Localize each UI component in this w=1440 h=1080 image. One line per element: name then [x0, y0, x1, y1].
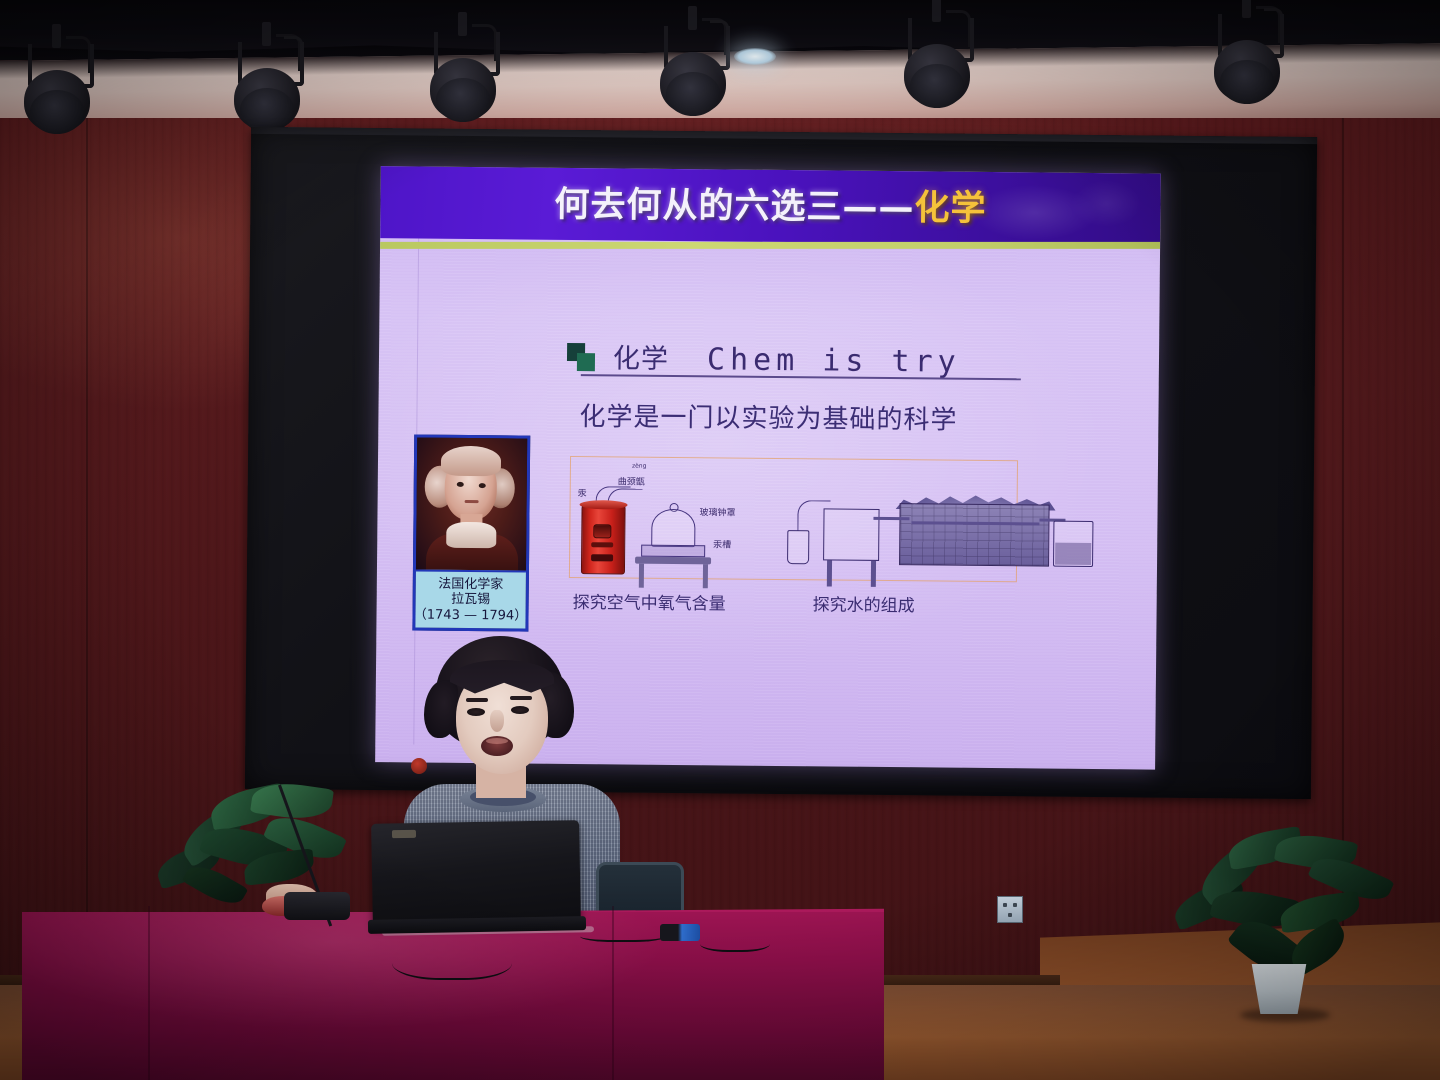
lecture-hall-photo: 何去何从的六选三——化学 化学 Chem is try 化学是一门以实验为基础的…: [0, 0, 1440, 1080]
presenter-eye-left: [467, 708, 485, 716]
ceiling-spotlight-icon: [734, 48, 776, 65]
cable-segment: [700, 932, 770, 952]
presenter-brow-left: [466, 698, 488, 702]
presenter-brow-right: [510, 696, 532, 700]
wall-panel-seam: [86, 118, 88, 938]
outlet-hole: [1008, 913, 1012, 917]
outlet-hole: [1013, 903, 1017, 907]
light-lens-icon: [666, 72, 720, 116]
power-outlet-plate[interactable]: [997, 896, 1023, 923]
cable-segment: [580, 928, 666, 942]
light-lens-icon: [436, 78, 490, 122]
laptop-badge: [392, 830, 416, 838]
presenter-mouth-highlight: [486, 738, 508, 744]
microphone-base: [284, 892, 350, 920]
presenter-eye-right: [511, 706, 529, 714]
light-lens-icon: [30, 90, 84, 134]
cable-segment: [392, 938, 512, 980]
tablecloth-fold: [148, 906, 150, 1080]
light-lens-icon: [910, 64, 964, 108]
wall-panel-seam: [1342, 118, 1344, 938]
vga-connector[interactable]: [660, 924, 700, 941]
presenter-hair-left: [424, 680, 458, 738]
outlet-hole: [1003, 903, 1007, 907]
presenter-nose: [490, 710, 504, 732]
light-lens-icon: [240, 88, 294, 132]
microphone-head-icon: [411, 758, 427, 774]
light-lens-icon: [1220, 60, 1274, 104]
